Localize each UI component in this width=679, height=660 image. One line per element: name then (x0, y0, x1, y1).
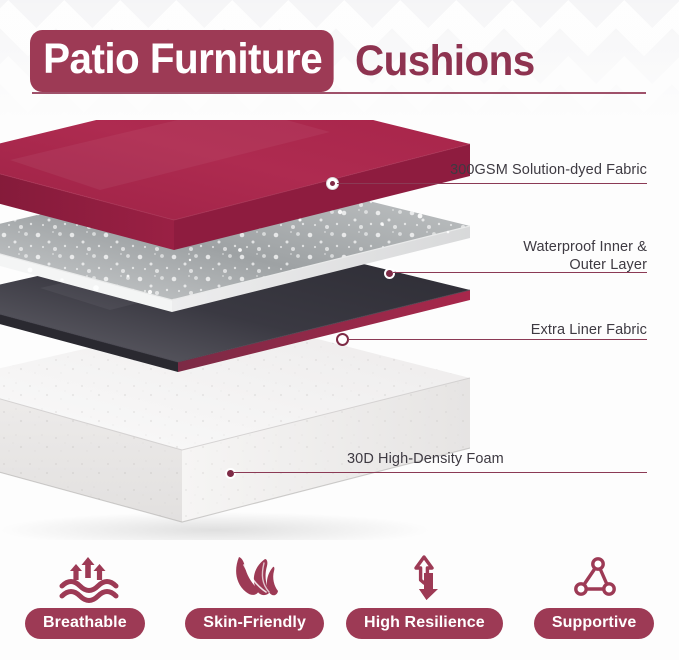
title-plain-text: Cushions (355, 40, 535, 83)
page-title: Patio Furniture Cushions (30, 30, 546, 92)
callout-leader-foam (234, 472, 647, 473)
feature-label-breathable: Breathable (25, 608, 145, 639)
feature-high-resilience: High Resilience (340, 552, 510, 660)
triangle-nodes-icon (566, 552, 622, 604)
callout-label-fabric: 300GSM Solution-dyed Fabric (347, 161, 647, 179)
feature-strip: Breathable Skin-Friendly (0, 552, 679, 660)
feature-breathable: Breathable (0, 552, 170, 660)
callout-label-foam: 30D High-Density Foam (347, 450, 647, 468)
callout-label-liner: Extra Liner Fabric (347, 321, 647, 339)
product-infographic: Patio Furniture Cushions (0, 0, 679, 660)
title-highlight-badge: Patio Furniture (30, 30, 333, 92)
feature-label-skin-friendly: Skin-Friendly (185, 608, 324, 639)
up-down-arrows-icon (396, 552, 452, 604)
feature-supportive: Supportive (509, 552, 679, 660)
callout-leader-fabric (337, 183, 647, 184)
feature-label-high-resilience: High Resilience (346, 608, 503, 639)
feature-label-supportive: Supportive (534, 608, 655, 639)
feather-icon (224, 552, 286, 604)
callout-label-waterproof: Waterproof Inner & Outer Layer (347, 238, 647, 274)
header: Patio Furniture Cushions (0, 14, 679, 92)
feature-skin-friendly: Skin-Friendly (170, 552, 340, 660)
callout-marker-foam (225, 468, 236, 479)
callout-leader-liner (348, 339, 647, 340)
arrows-over-waves-icon (48, 552, 122, 604)
title-underline (32, 92, 646, 94)
